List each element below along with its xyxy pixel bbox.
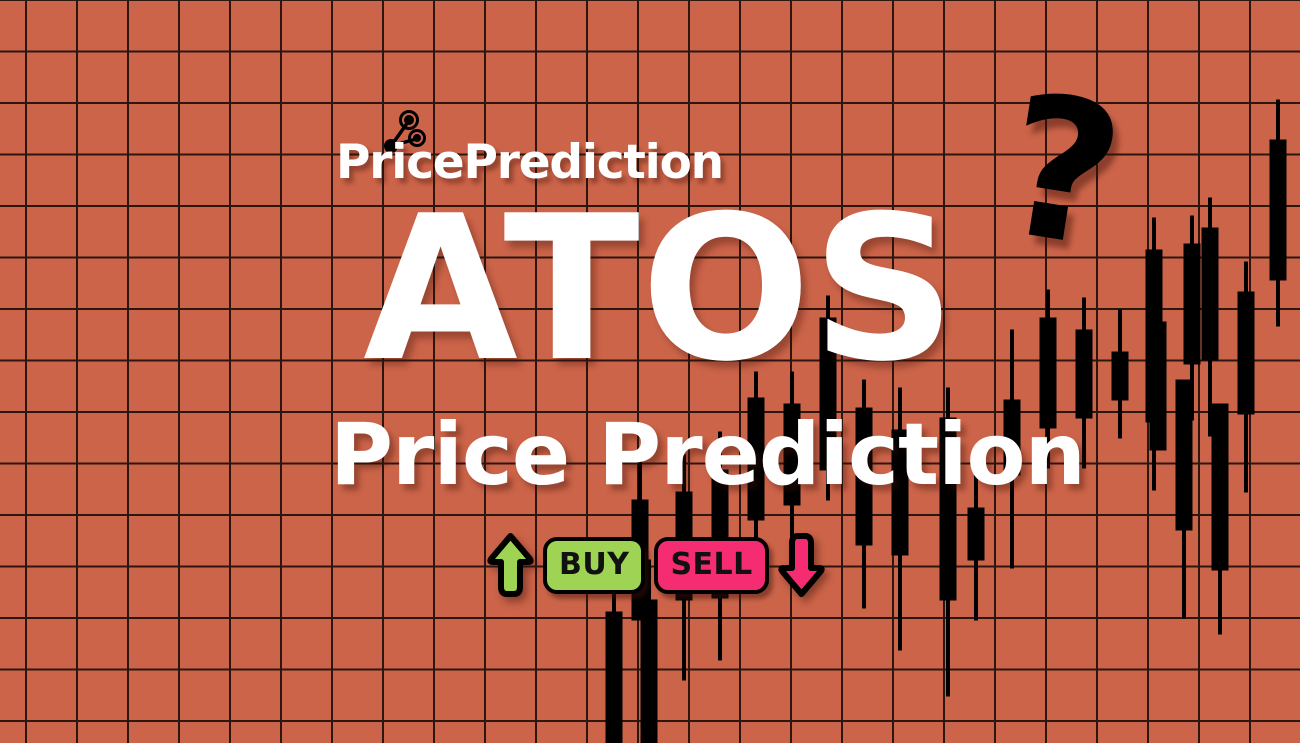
- arrow-down-icon: [778, 532, 825, 598]
- ticker-symbol: ATOS: [330, 190, 990, 390]
- arrow-up-icon: [487, 532, 534, 598]
- page-subtitle: Price Prediction: [330, 412, 1010, 498]
- banner-content: PricePrediction ? ATOS Price Prediction …: [0, 0, 1300, 743]
- price-prediction-banner: PricePrediction ? ATOS Price Prediction …: [0, 0, 1300, 743]
- buy-badge[interactable]: BUY: [543, 537, 645, 594]
- signal-indicators: BUY SELL: [487, 532, 825, 598]
- question-mark-decoration: ?: [991, 66, 1133, 276]
- sell-badge[interactable]: SELL: [654, 537, 768, 594]
